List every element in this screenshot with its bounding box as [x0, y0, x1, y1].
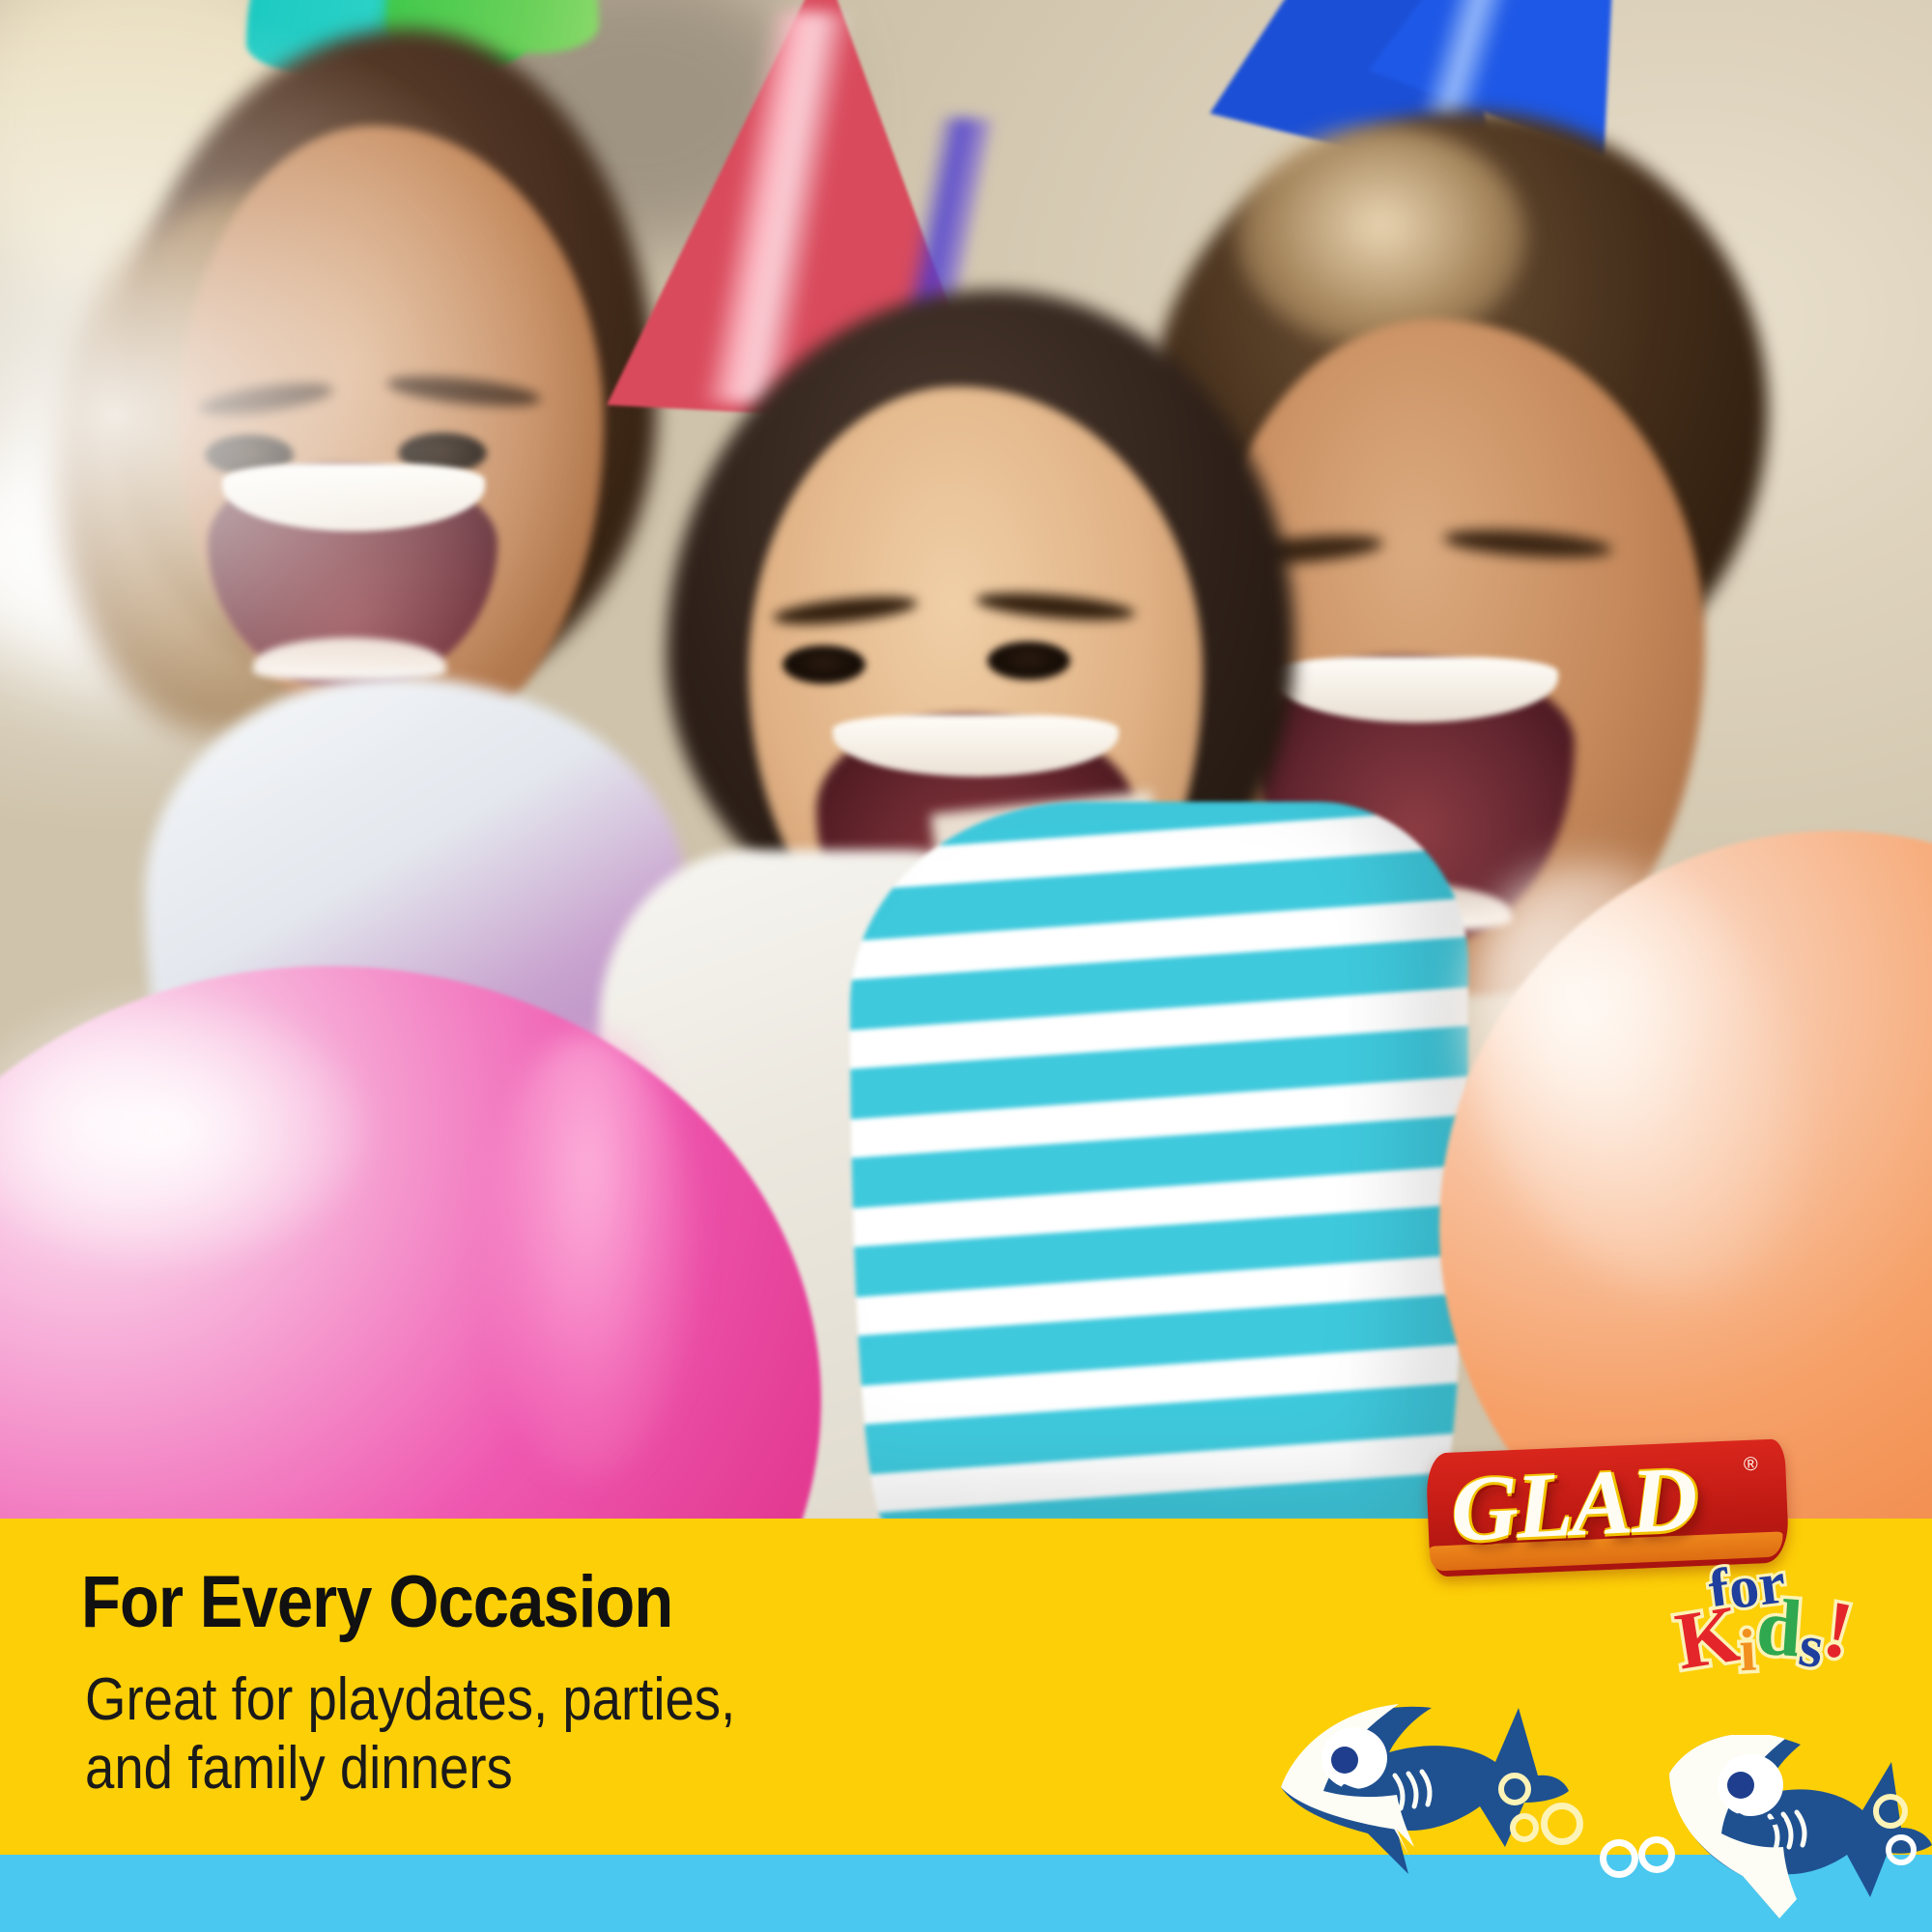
- for-kids-kids-text: Kids!: [1676, 1594, 1851, 1682]
- registered-trademark-icon: ®: [1743, 1454, 1758, 1477]
- shark-right-icon: [1656, 1735, 1932, 1932]
- bubble: [1541, 1803, 1583, 1845]
- child-right-eye-r: [1451, 576, 1544, 609]
- bubble: [1638, 1836, 1675, 1873]
- party-photo: [0, 0, 1932, 1519]
- subline: Great for playdates, parties, and family…: [85, 1666, 735, 1803]
- glad-wordmark: GLAD: [1449, 1452, 1697, 1555]
- kids-exclamation: !: [1817, 1588, 1859, 1673]
- headline: For Every Occasion: [81, 1560, 672, 1644]
- child-right-hair-highlight: [1236, 126, 1526, 348]
- bubble: [1498, 1773, 1531, 1805]
- kids-letter-k: K: [1670, 1593, 1746, 1683]
- bubble: [1886, 1834, 1917, 1865]
- kids-letter-d: d: [1753, 1586, 1804, 1670]
- child-center-eye-r: [987, 641, 1070, 680]
- child-center-eye-l: [782, 645, 866, 684]
- glad-for-kids-ad: For Every Occasion Great for playdates, …: [0, 0, 1932, 1932]
- bubble: [1873, 1794, 1908, 1829]
- for-kids-lockup: for Kids!: [1686, 1557, 1927, 1692]
- balloon-pink-highlight-2: [483, 1034, 696, 1478]
- bubble: [1600, 1839, 1638, 1878]
- bubble: [1510, 1813, 1539, 1842]
- child-center-striped-cardigan: [850, 802, 1468, 1519]
